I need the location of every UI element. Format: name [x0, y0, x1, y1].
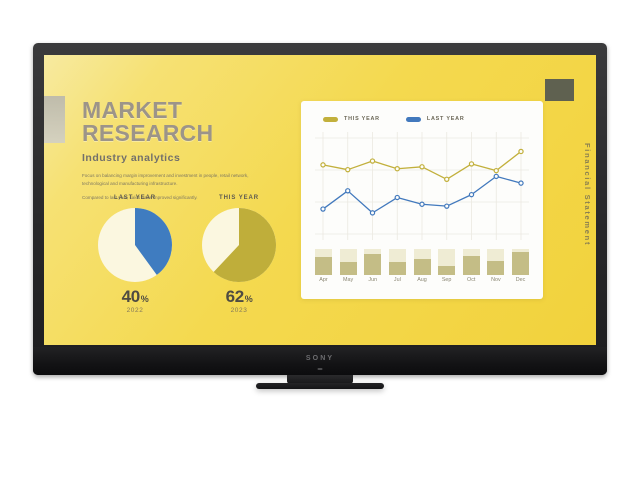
power-led-indicator — [318, 368, 323, 370]
bar-segment-lower — [463, 256, 480, 275]
page-title: MARKET RESEARCH — [82, 99, 314, 145]
page-subtitle: Industry analytics — [82, 152, 314, 164]
monitor-stand-base — [256, 383, 384, 389]
bar-segment-lower — [364, 254, 381, 275]
pie-percent-symbol-last-year: % — [141, 294, 149, 304]
pie-chart-group: LAST YEAR 40% 2022 THIS YEAR — [82, 195, 314, 340]
month-label: Oct — [460, 277, 482, 283]
monitor-bottom-bezel: SONY — [33, 347, 607, 375]
pie-svg-last-year — [97, 207, 173, 283]
month-label: May — [337, 277, 359, 283]
stacked-bar-chart — [315, 249, 529, 275]
slide-left-column: MARKET RESEARCH Industry analytics Focus… — [82, 99, 314, 208]
pie-percent-last-year: 40% — [82, 288, 188, 305]
pie-svg-this-year — [201, 207, 277, 283]
body-paragraph-1: Focus on balancing margin improvement an… — [82, 172, 260, 188]
bar-segment-lower — [389, 262, 406, 275]
display-screen: Financial Statement MARKET RESEARCH Indu… — [44, 55, 596, 345]
pie-percent-value-this-year: 62 — [226, 287, 244, 306]
pie-percent-this-year: 62% — [186, 288, 292, 305]
month-label: Apr — [313, 277, 335, 283]
vertical-section-label: Financial Statement — [583, 143, 592, 246]
accent-bar-left — [44, 96, 65, 143]
line-chart-plot — [315, 132, 529, 240]
month-label: Nov — [485, 277, 507, 283]
legend-swatch-this-year — [323, 117, 338, 122]
pie-year-this-year: 2023 — [186, 307, 292, 314]
bar-segment-upper — [487, 249, 504, 261]
stacked-bar — [463, 249, 480, 275]
stacked-bar — [389, 249, 406, 275]
month-axis-labels: AprMayJunJulAugSepOctNovDec — [315, 277, 529, 289]
bar-segment-lower — [340, 262, 357, 275]
pie-caption-this-year: THIS YEAR — [186, 195, 292, 201]
bar-segment-lower — [512, 252, 529, 275]
accent-block-top-right — [545, 79, 574, 101]
pie-percent-value-last-year: 40 — [122, 287, 140, 306]
stacked-bar — [315, 249, 332, 275]
stacked-bar — [364, 249, 381, 275]
brand-logo: SONY — [306, 355, 334, 362]
screenshot-root: Financial Statement MARKET RESEARCH Indu… — [0, 0, 640, 480]
bar-segment-upper — [463, 249, 480, 256]
bar-segment-lower — [487, 261, 504, 275]
legend-label-this-year: THIS YEAR — [344, 116, 380, 122]
bar-segment-upper — [389, 249, 406, 262]
bar-segment-upper — [315, 249, 332, 257]
display-monitor: Financial Statement MARKET RESEARCH Indu… — [33, 43, 607, 375]
bar-segment-lower — [438, 266, 455, 275]
month-label: Jun — [362, 277, 384, 283]
pie-chart-this-year: THIS YEAR 62% 2023 — [186, 195, 292, 314]
presentation-slide: Financial Statement MARKET RESEARCH Indu… — [44, 55, 596, 345]
stacked-bar — [512, 249, 529, 275]
stacked-bar — [340, 249, 357, 275]
bar-segment-lower — [315, 257, 332, 275]
legend-item-last-year: LAST YEAR — [406, 116, 465, 122]
bar-segment-upper — [340, 249, 357, 262]
month-label: Sep — [436, 277, 458, 283]
stacked-bar — [438, 249, 455, 275]
legend-swatch-last-year — [406, 117, 421, 122]
legend-label-last-year: LAST YEAR — [427, 116, 465, 122]
month-label: Jul — [386, 277, 408, 283]
pie-year-last-year: 2022 — [82, 307, 188, 314]
month-label: Dec — [510, 277, 532, 283]
bar-segment-lower — [414, 259, 431, 275]
pie-percent-symbol-this-year: % — [245, 294, 253, 304]
pie-caption-last-year: LAST YEAR — [82, 195, 188, 201]
chart-legend: THIS YEAR LAST YEAR — [323, 116, 465, 122]
bar-segment-upper — [414, 249, 431, 259]
pie-chart-last-year: LAST YEAR 40% 2022 — [82, 195, 188, 314]
stacked-bar — [414, 249, 431, 275]
stacked-bar — [487, 249, 504, 275]
bar-segment-upper — [438, 249, 455, 266]
chart-card: THIS YEAR LAST YEAR AprMayJunJulAugSepOc… — [301, 101, 543, 299]
legend-item-this-year: THIS YEAR — [323, 116, 380, 122]
month-label: Aug — [411, 277, 433, 283]
